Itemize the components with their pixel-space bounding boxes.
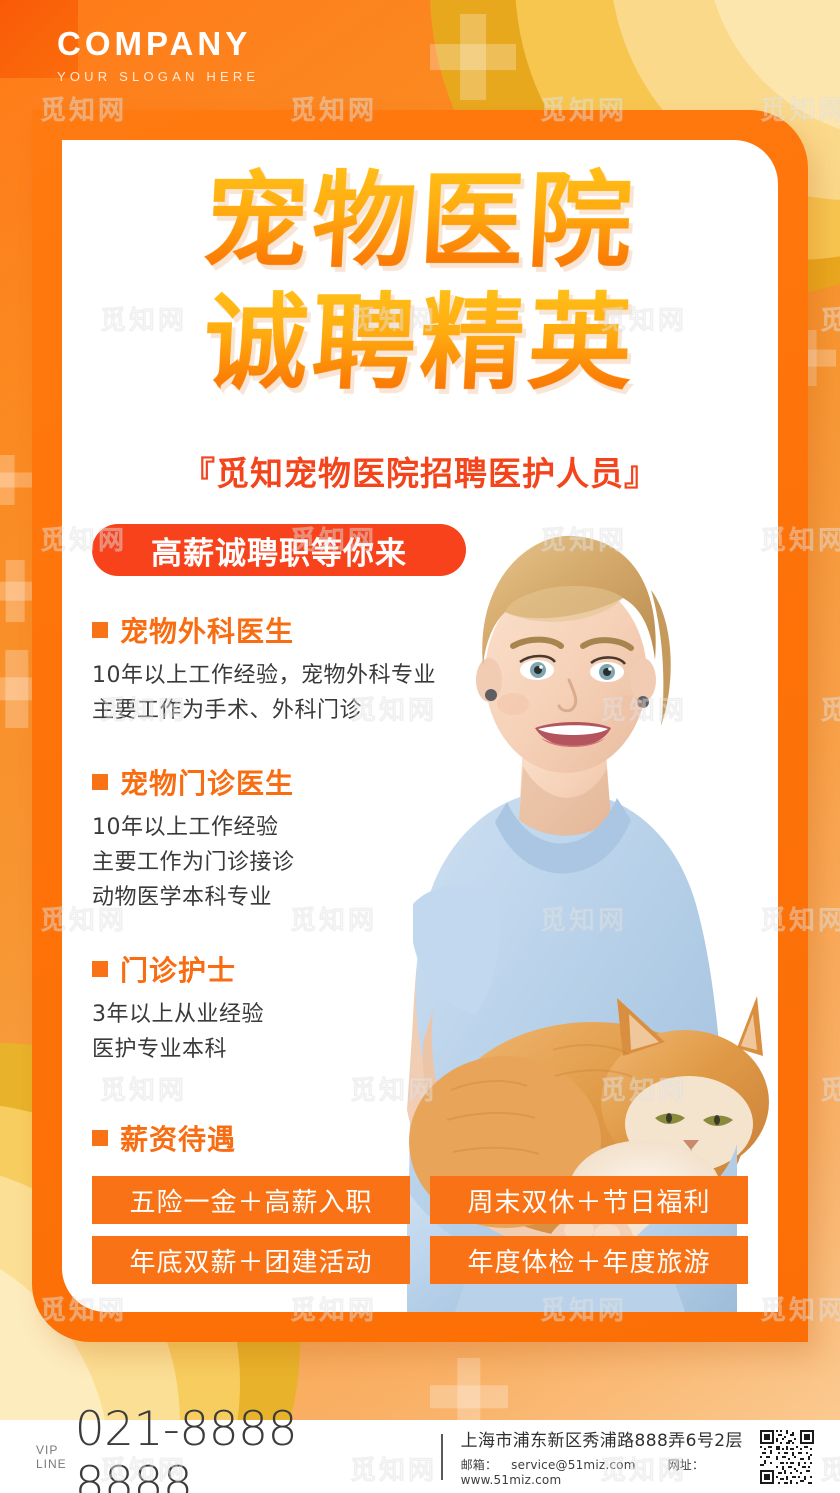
salary-section-header: 薪资待遇 <box>92 1118 236 1158</box>
email-value: service@51miz.com <box>511 1458 635 1472</box>
square-bullet-icon <box>92 1130 108 1146</box>
square-bullet-icon <box>92 961 108 977</box>
subtitle: 『觅知宠物医院招聘医护人员』 <box>62 447 778 495</box>
company-header: COMPANY YOUR SLOGAN HERE <box>57 25 259 84</box>
company-slogan: YOUR SLOGAN HERE <box>57 69 259 84</box>
website-value: www.51miz.com <box>461 1473 562 1487</box>
job-requirement-line: 10年以上工作经验，宠物外科专业 <box>92 658 452 693</box>
job-requirement-line: 10年以上工作经验 <box>92 810 452 845</box>
job-requirement-line: 动物医学本科专业 <box>92 880 452 915</box>
contact-footer: VIP LINE 021-8888 8888 上海市浦东新区秀浦路888弄6号2… <box>0 1420 840 1493</box>
benefit-item: 年底双薪＋团建活动 <box>92 1236 410 1284</box>
recruit-badge: 高薪诚聘职等你来 <box>92 524 466 576</box>
square-bullet-icon <box>92 774 108 790</box>
job-requirements: 3年以上从业经验 医护专业本科 <box>92 997 452 1067</box>
job-item: 宠物门诊医生 10年以上工作经验 主要工作为门诊接诊 动物医学本科专业 <box>92 762 452 915</box>
job-title: 宠物门诊医生 <box>120 762 294 802</box>
vip-line-label-top: VIP <box>36 1443 67 1457</box>
phone-number[interactable]: 021-8888 8888 <box>75 1402 423 1493</box>
vip-line-label-bottom: LINE <box>36 1457 67 1471</box>
footer-divider <box>441 1434 443 1480</box>
benefit-item: 周末双休＋节日福利 <box>430 1176 748 1224</box>
job-header: 宠物外科医生 <box>92 610 452 650</box>
job-item: 门诊护士 3年以上从业经验 医护专业本科 <box>92 949 452 1067</box>
salary-section-title: 薪资待遇 <box>120 1118 236 1158</box>
vip-line-label: VIP LINE <box>36 1443 67 1471</box>
square-bullet-icon <box>92 622 108 638</box>
poster-root: COMPANY YOUR SLOGAN HERE <box>0 0 840 1493</box>
job-requirements: 10年以上工作经验，宠物外科专业 主要工作为手术、外科门诊 <box>92 658 452 728</box>
recruit-badge-label: 高薪诚聘职等你来 <box>151 528 407 573</box>
email-entry[interactable]: 邮箱：service@51miz.com <box>461 1458 650 1472</box>
benefit-label: 年底双薪＋团建活动 <box>129 1242 372 1279</box>
job-title: 宠物外科医生 <box>120 610 294 650</box>
job-requirement-line: 3年以上从业经验 <box>92 997 452 1032</box>
job-requirement-line: 主要工作为门诊接诊 <box>92 845 452 880</box>
benefit-label: 五险一金＋高薪入职 <box>129 1182 372 1219</box>
benefit-item: 五险一金＋高薪入职 <box>92 1176 410 1224</box>
job-item: 宠物外科医生 10年以上工作经验，宠物外科专业 主要工作为手术、外科门诊 <box>92 610 452 728</box>
benefit-label: 年度体检＋年度旅游 <box>467 1242 710 1279</box>
job-requirements: 10年以上工作经验 主要工作为门诊接诊 动物医学本科专业 <box>92 810 452 915</box>
benefit-label: 周末双休＋节日福利 <box>467 1182 710 1219</box>
qr-code[interactable] <box>760 1430 814 1484</box>
job-title: 门诊护士 <box>120 949 236 989</box>
medical-cross-icon <box>0 455 32 505</box>
medical-cross-icon <box>430 14 516 100</box>
job-requirement-line: 医护专业本科 <box>92 1032 452 1067</box>
email-label: 邮箱： <box>461 1458 498 1472</box>
benefit-item: 年度体检＋年度旅游 <box>430 1236 748 1284</box>
job-header: 宠物门诊医生 <box>92 762 452 802</box>
job-header: 门诊护士 <box>92 949 452 989</box>
job-requirement-line: 主要工作为手术、外科门诊 <box>92 693 452 728</box>
benefits-grid: 五险一金＋高薪入职 周末双休＋节日福利 年底双薪＋团建活动 年度体检＋年度旅游 <box>92 1176 748 1284</box>
website-label: 网址： <box>668 1458 705 1472</box>
job-list: 宠物外科医生 10年以上工作经验，宠物外科专业 主要工作为手术、外科门诊 宠物门… <box>92 610 452 1101</box>
company-name: COMPANY <box>57 25 259 63</box>
